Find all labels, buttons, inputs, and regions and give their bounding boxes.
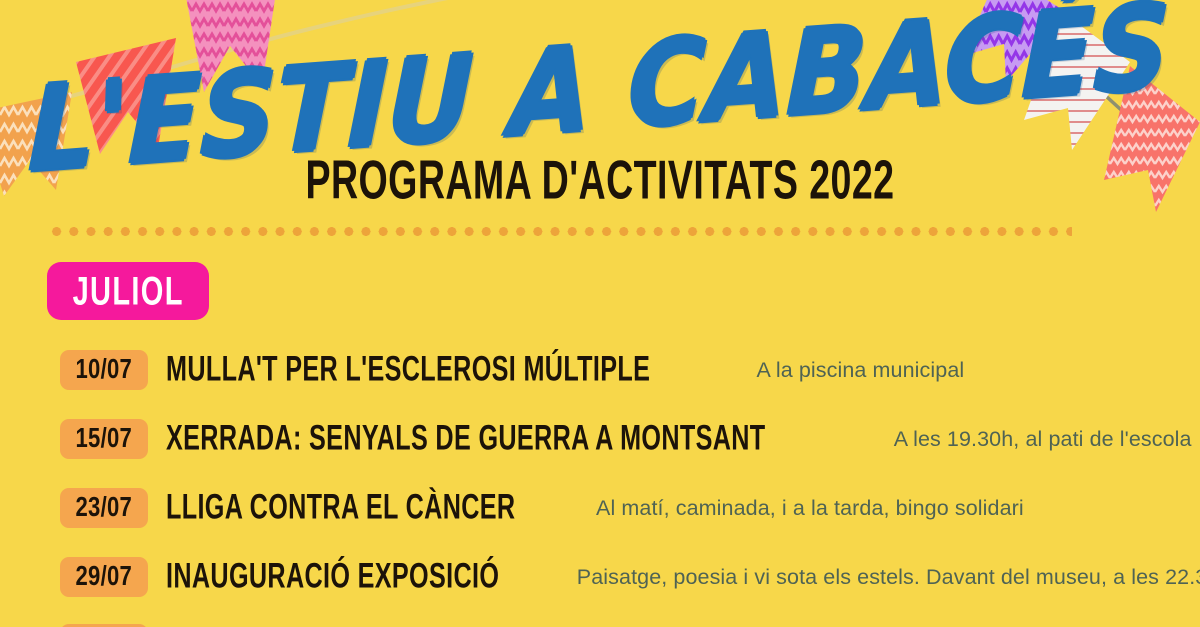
event-date-label: 15/07	[76, 423, 133, 455]
event-title: LLIGA CONTRA EL CÀNCER	[166, 488, 515, 528]
event-date-badge: 10/07	[60, 350, 148, 390]
event-date-badge: 29/07	[60, 557, 148, 597]
event-description: Al matí, caminada, i a la tarda, bingo s…	[596, 496, 1024, 521]
month-badge-label: JULIOL	[73, 268, 184, 314]
event-date-label: 23/07	[76, 492, 133, 524]
event-date-label: 10/07	[76, 354, 133, 386]
list-item: 10/07 MULLA'T PER L'ESCLEROSI MÚLTIPLE A…	[0, 348, 1200, 392]
event-date-badge: 23/07	[60, 488, 148, 528]
event-description: A les 19.30h, al pati de l'escola	[894, 427, 1192, 452]
event-date-badge: 15/07	[60, 419, 148, 459]
list-item: 29/07 INAUGURACIÓ EXPOSICIÓ Paisatge, po…	[0, 555, 1200, 599]
list-item: 23/07 LLIGA CONTRA EL CÀNCER Al matí, ca…	[0, 486, 1200, 530]
event-title: MULLA'T PER L'ESCLEROSI MÚLTIPLE	[166, 350, 650, 390]
list-item: 15/07 XERRADA: SENYALS DE GUERRA A MONTS…	[0, 417, 1200, 461]
event-title: INAUGURACIÓ EXPOSICIÓ	[166, 557, 499, 597]
event-description: A la piscina municipal	[757, 358, 965, 383]
event-list: 10/07 MULLA'T PER L'ESCLEROSI MÚLTIPLE A…	[0, 348, 1200, 627]
poster-canvas: L'ESTIU A CABACÉS PROGRAMA D'ACTIVITATS …	[0, 0, 1200, 627]
page-subtitle: PROGRAMA D'ACTIVITATS 2022	[120, 152, 1080, 207]
event-title: XERRADA: SENYALS DE GUERRA A MONTSANT	[166, 419, 766, 459]
title-block: L'ESTIU A CABACÉS	[0, 14, 1200, 164]
dotted-divider	[48, 227, 1072, 236]
event-date-label: 29/07	[76, 561, 133, 593]
month-badge-juliol: JULIOL	[47, 262, 209, 320]
event-description: Paisatge, poesia i vi sota els estels. D…	[577, 565, 1200, 590]
